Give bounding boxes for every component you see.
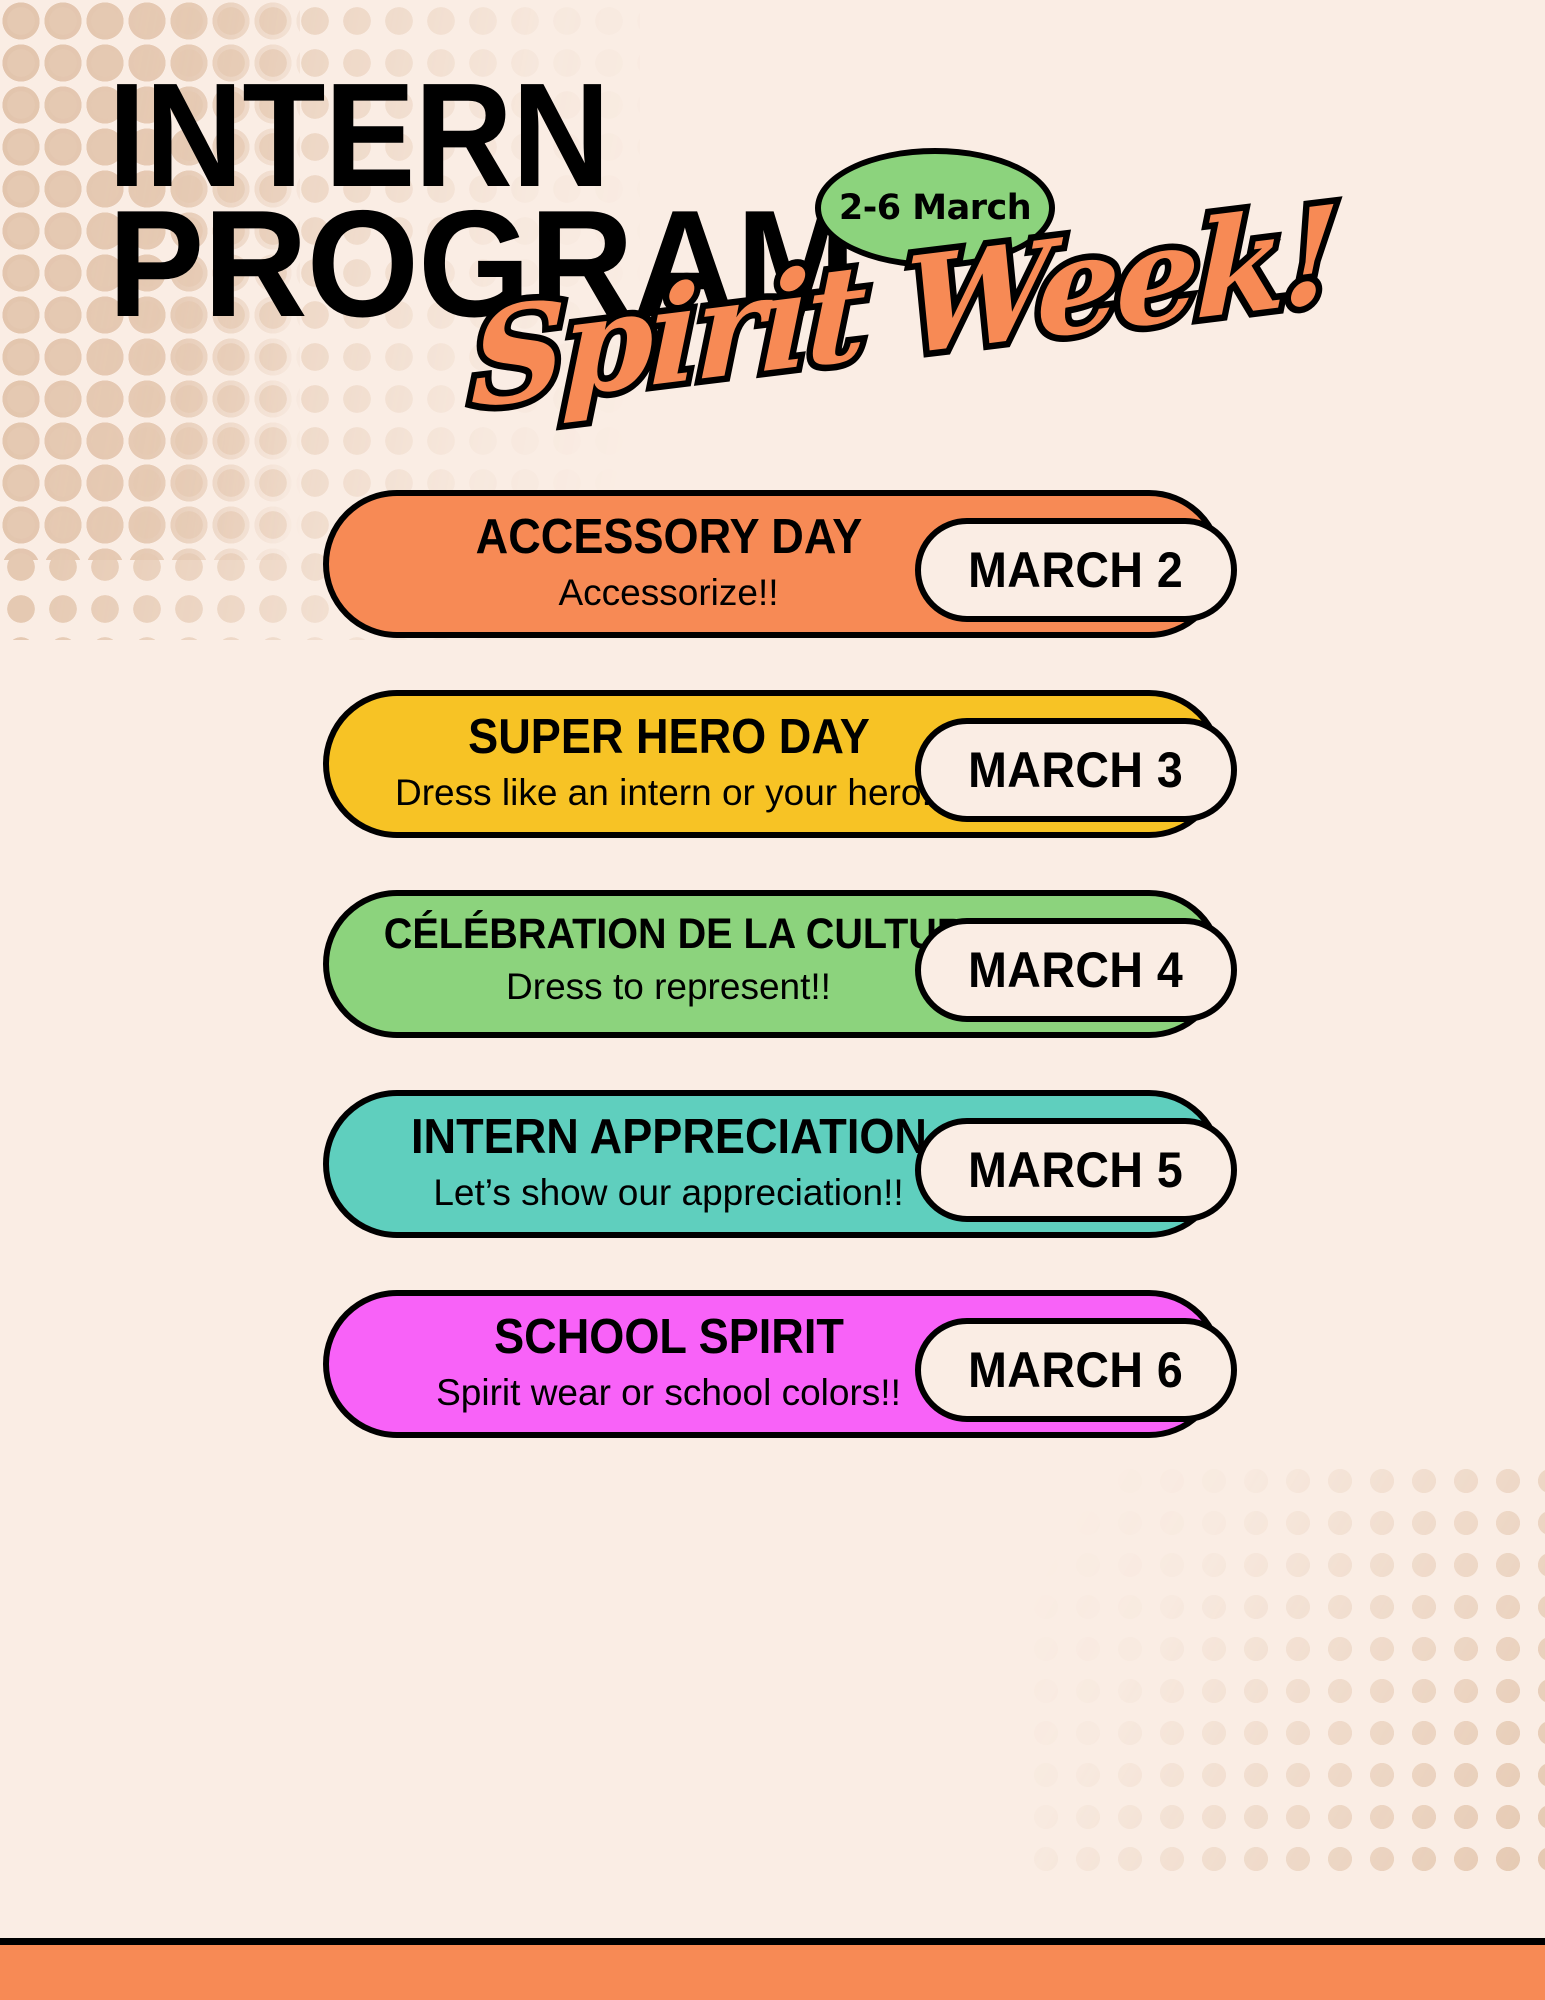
schedule-row-date-label: MARCH 6 [968,1341,1183,1399]
schedule-row-text: SCHOOL SPIRIT Spirit wear or school colo… [359,1312,979,1414]
schedule-row-date-pill: MARCH 5 [915,1118,1237,1222]
schedule-row-subtitle: Let’s show our appreciation!! [359,1173,979,1214]
footer-bar [0,1938,1545,2000]
schedule-row-date-pill: MARCH 3 [915,718,1237,822]
halftone-dots-bottom-right [1025,1460,1545,1880]
schedule-row-title: INTERN APPRECIATION [383,1112,953,1163]
schedule-row-text: INTERN APPRECIATION Let’s show our appre… [359,1112,979,1214]
schedule-row-date-pill: MARCH 4 [915,918,1237,1022]
schedule-row-text: SUPER HERO DAY Dress like an intern or y… [359,712,979,814]
schedule-row-title: CÉLÉBRATION DE LA CULTURE [383,912,953,957]
schedule-row: ACCESSORY DAY Accessorize!! MARCH 2 [323,490,1223,638]
schedule-row-title: ACCESSORY DAY [383,512,953,563]
schedule-row-date-pill: MARCH 2 [915,518,1237,622]
schedule-row-date-label: MARCH 4 [968,941,1183,999]
schedule-row-text: CÉLÉBRATION DE LA CULTURE Dress to repre… [359,912,979,1008]
poster-canvas: INTERN PROGRAM 2-6 March Spirit Week! AC… [0,0,1545,2000]
schedule-row-date-pill: MARCH 6 [915,1318,1237,1422]
schedule-row-subtitle: Spirit wear or school colors!! [359,1373,979,1414]
schedule-row-date-label: MARCH 5 [968,1141,1183,1199]
schedule-row: SUPER HERO DAY Dress like an intern or y… [323,690,1223,838]
schedule-row-text: ACCESSORY DAY Accessorize!! [359,512,979,614]
schedule-row-subtitle: Dress like an intern or your hero!! [359,773,979,814]
schedule-list: ACCESSORY DAY Accessorize!! MARCH 2 SUPE… [0,490,1545,1490]
schedule-row-date-label: MARCH 2 [968,541,1183,599]
schedule-row-subtitle: Accessorize!! [359,573,979,614]
schedule-row: INTERN APPRECIATION Let’s show our appre… [323,1090,1223,1238]
schedule-row-title: SCHOOL SPIRIT [383,1312,953,1363]
schedule-row-title: SUPER HERO DAY [383,712,953,763]
schedule-row-subtitle: Dress to represent!! [359,967,979,1008]
schedule-row-date-label: MARCH 3 [968,741,1183,799]
schedule-row: CÉLÉBRATION DE LA CULTURE Dress to repre… [323,890,1223,1038]
schedule-row: SCHOOL SPIRIT Spirit wear or school colo… [323,1290,1223,1438]
